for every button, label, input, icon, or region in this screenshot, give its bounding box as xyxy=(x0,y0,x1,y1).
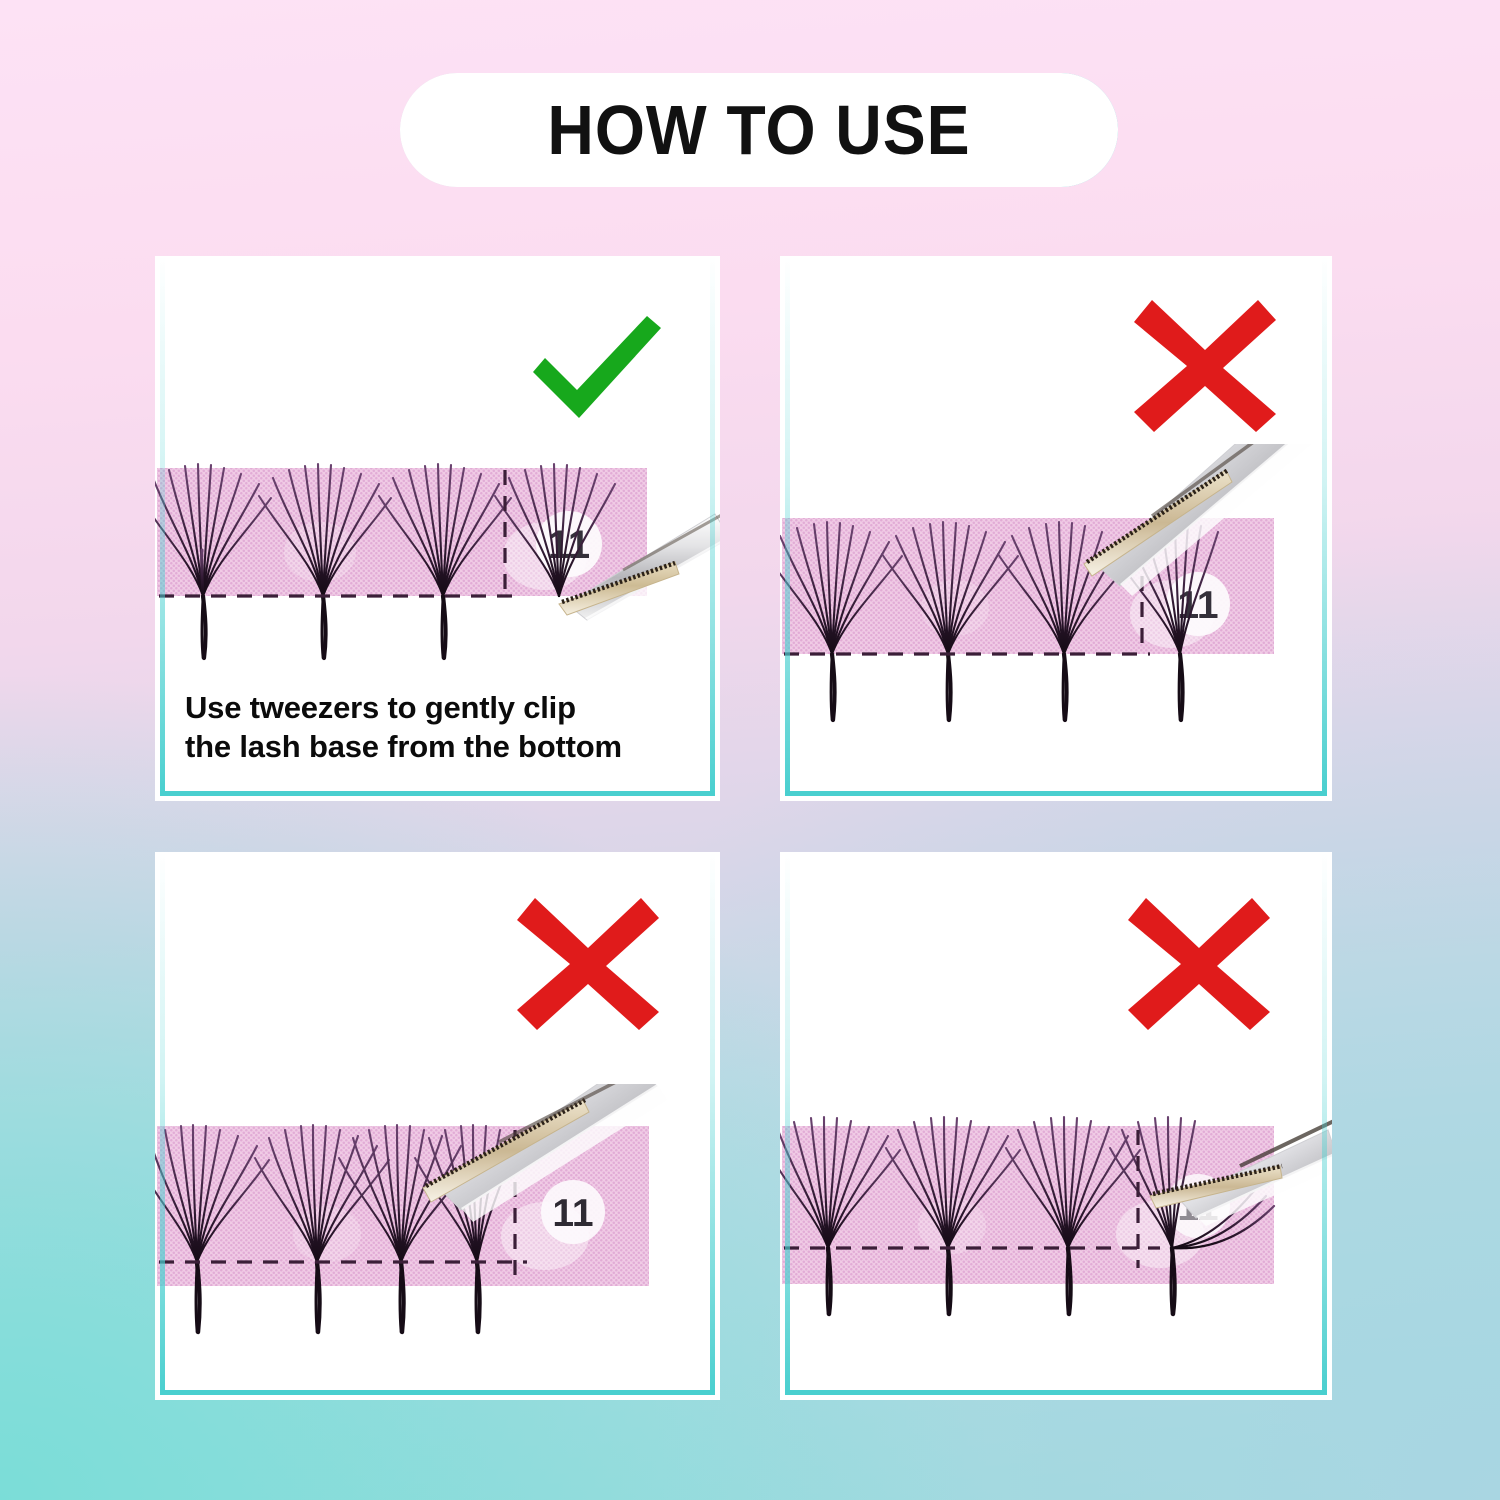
panel-caption: Use tweezers to gently clip the lash bas… xyxy=(185,688,622,767)
page-title: HOW TO USE xyxy=(547,95,970,165)
infographic-canvas: HOW TO USE xyxy=(0,0,1500,1500)
panel-correct-method: 11 xyxy=(155,256,720,801)
red-cross-icon xyxy=(1124,894,1274,1034)
strip-number-label: 11 xyxy=(552,1192,593,1235)
panel-wrong-grip-from-top: 11 xyxy=(780,256,1332,801)
lash-scene-2: 11 xyxy=(780,444,1332,774)
lash-scene-4: 11 xyxy=(780,1108,1332,1400)
green-check-icon xyxy=(525,314,665,424)
lash-scene-3: 11 xyxy=(155,1084,720,1394)
page-title-banner: HOW TO USE xyxy=(400,73,1118,187)
red-cross-icon xyxy=(1130,296,1280,436)
panel-wrong-grip-mid-lash: 11 xyxy=(155,852,720,1400)
red-cross-icon xyxy=(513,894,663,1034)
panel-wrong-sideways-pull: 11 xyxy=(780,852,1332,1400)
